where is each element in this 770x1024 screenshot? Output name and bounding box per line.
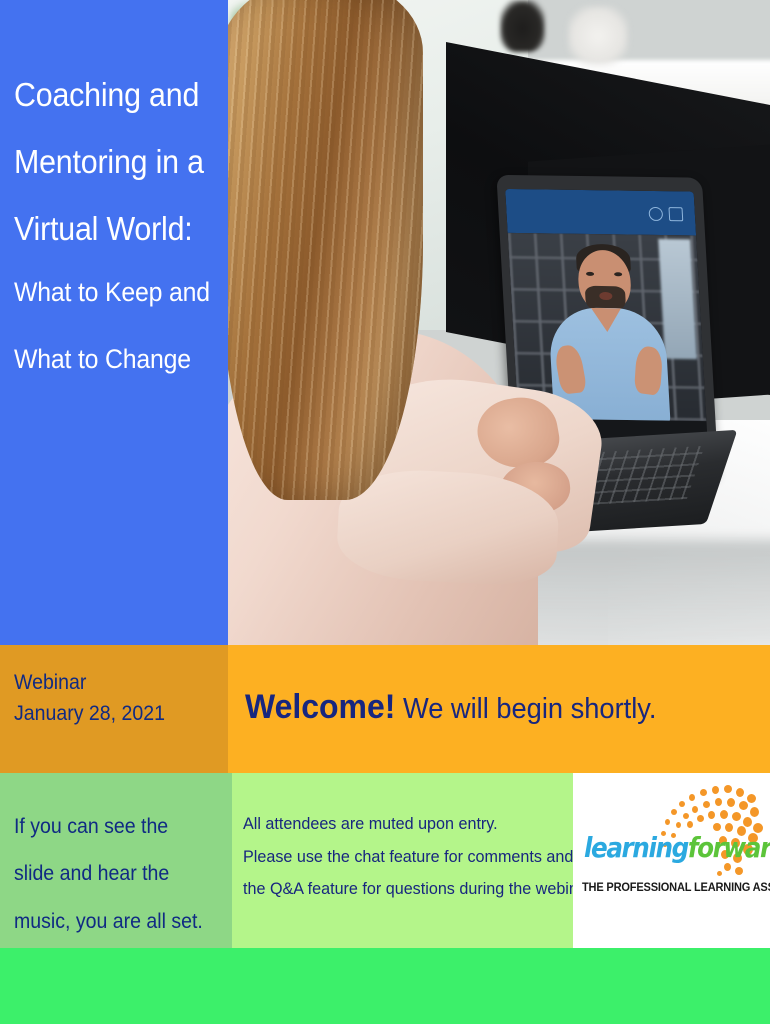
welcome-rest: We will begin shortly. [395,693,656,725]
title-panel: Coaching and Mentoring in a Virtual Worl… [0,0,228,645]
photo-white-cup [568,6,628,66]
settings-icon [648,207,663,221]
title-line-1: Coaching and [14,78,211,111]
layout-icon [668,207,683,221]
instruction-line-2: Please use the chat feature for comments… [243,841,557,874]
title-line-2: Mentoring in a [14,145,211,178]
photo-dark-cup [500,0,545,52]
instruction-line-1: All attendees are muted upon entry. [243,808,557,841]
photo-woman-hair-strands [228,0,423,500]
participant-mouth [599,292,612,300]
welcome-message: Welcome! We will begin shortly. [245,688,739,727]
video-call-topbar [505,189,696,236]
hero-photo-video-call [228,0,770,645]
participant-eye-left [586,272,594,276]
participant-eye-right [614,272,622,276]
orange-band: Webinar January 28, 2021 Welcome! We wil… [0,645,770,773]
logo-tagline: THE PROFESSIONAL LEARNING ASSOCIATION [582,880,770,894]
logo-word-learning: learning [584,831,688,864]
tech-check-line-1: If you can see the [14,803,217,850]
background-window [658,239,697,359]
welcome-bold: Welcome! [245,688,395,726]
participant-hand-right [634,345,663,396]
bottom-green-band [0,948,770,1024]
tech-check-panel: If you can see the slide and hear the mu… [0,773,232,948]
webinar-info-panel: Webinar January 28, 2021 [0,645,228,773]
tech-check-line-2: slide and hear the [14,850,217,897]
webinar-label: Webinar [14,667,213,698]
subtitle-line-1: What to Keep and [14,279,211,306]
webinar-date: January 28, 2021 [14,698,213,729]
instruction-line-3: the Q&A feature for questions during the… [243,873,557,906]
green-band: If you can see the slide and hear the mu… [0,773,770,948]
welcome-panel: Welcome! We will begin shortly. [228,645,770,773]
subtitle-line-2: What to Change [14,346,211,373]
learning-forward-logo: learningforward THE PROFESSIONAL LEARNIN… [573,773,770,948]
title-line-3: Virtual World: [14,212,211,245]
logo-wordmark: learningforward [584,831,770,864]
instructions-panel: All attendees are muted upon entry. Plea… [232,773,573,948]
webinar-title-slide: Coaching and Mentoring in a Virtual Worl… [0,0,770,1024]
logo-panel: learningforward THE PROFESSIONAL LEARNIN… [573,773,770,948]
slide-top-region: Coaching and Mentoring in a Virtual Worl… [0,0,770,645]
logo-word-forward: forward [688,831,770,864]
tech-check-line-3: music, you are all set. [14,898,217,945]
